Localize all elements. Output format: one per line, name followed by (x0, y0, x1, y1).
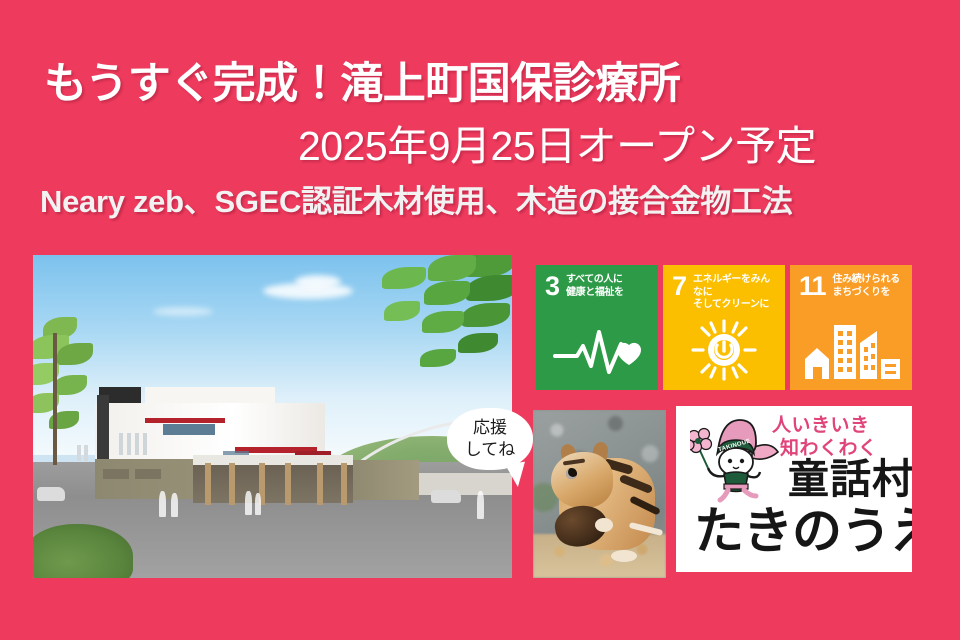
sdg-badge-header: 7 エネルギーをみんなに そしてクリーンに (663, 265, 785, 312)
leaf-shape (422, 311, 464, 333)
cloud-shape (153, 307, 213, 316)
figure-silhouette (159, 491, 166, 517)
chipmunk-eye (566, 468, 577, 479)
logo-tagline-line1: 人いきいき (772, 414, 870, 438)
figure-silhouette (245, 491, 252, 515)
fairy-mascot-icon (690, 414, 784, 506)
sun-power-icon (663, 319, 785, 381)
entrance-canopy-soffit (193, 465, 353, 503)
sdg-label: すべての人に 健康と福祉を (566, 274, 624, 299)
chipmunk-paw (595, 518, 613, 532)
sdg-label: エネルギーをみんなに そしてクリーンに (693, 274, 779, 312)
window-strip (135, 469, 161, 479)
leaf-shape (53, 375, 87, 395)
leaf-shape (384, 301, 420, 321)
roof-accent-band (145, 418, 225, 423)
wood-column (341, 463, 347, 505)
sdg-number: 7 (672, 274, 686, 299)
sdg-badge-header: 3 すべての人に 健康と福祉を (536, 265, 658, 299)
leaf-shape (382, 267, 426, 289)
entrance-canopy (193, 455, 353, 465)
parked-car (37, 487, 65, 501)
sdg-badge-header: 11 住み続けられる まちづくりを (790, 265, 912, 299)
sdg-number: 11 (799, 274, 826, 299)
sdg-badge-11[interactable]: 11 住み続けられる まちづくりを (790, 265, 912, 390)
sdg-badge-7[interactable]: 7 エネルギーをみんなに そしてクリーンに (663, 265, 785, 390)
speech-bubble-tail (505, 462, 529, 489)
window-strip (163, 424, 215, 435)
building-right-wing (351, 460, 419, 500)
sdg-number: 3 (545, 274, 559, 299)
leaf-shape (428, 255, 476, 281)
poster-canvas: もうすぐ完成！滝上町国保診療所 2025年9月25日オープン予定 Neary z… (0, 0, 960, 640)
clinic-rendering-photo (33, 255, 512, 578)
wood-column (285, 463, 291, 505)
speech-bubble-line2: してね (465, 439, 516, 461)
window-strip (143, 433, 147, 455)
takinoue-logo[interactable]: TAKINOUE 人いきいき 知わくわく 童話村 たきのうえ (676, 406, 912, 572)
sdg-label: 住み続けられる まちづくりを (833, 274, 900, 299)
cityscape-icon (790, 319, 912, 381)
chipmunk-photo-alt: シマリス（エゾシマリス）の写真 (0, 0, 1, 1)
leaf-shape (57, 343, 93, 365)
cloud-shape (295, 275, 341, 288)
wood-column (229, 463, 235, 505)
speech-bubble: 応援 してね (447, 408, 533, 470)
page-subtitle: Neary zeb、SGEC認証木材使用、木造の接合金物工法 (40, 183, 792, 221)
leaf-shape (420, 349, 456, 367)
leaf-shape (458, 333, 498, 353)
figure-silhouette (477, 491, 484, 519)
logo-village-text: 童話村 (788, 456, 912, 502)
wood-column (317, 463, 323, 505)
chipmunk-paw (611, 550, 637, 562)
parked-car (431, 490, 461, 503)
tree-right (340, 255, 512, 389)
heartbeat-icon (536, 319, 658, 381)
tree-left (33, 313, 131, 463)
wood-column (205, 463, 211, 505)
figure-silhouette (171, 493, 178, 517)
tree-trunk (53, 333, 57, 465)
speech-bubble-line1: 応援 (473, 417, 507, 439)
figure-silhouette (255, 493, 261, 515)
window-strip (103, 469, 129, 479)
leaf-shape (466, 275, 512, 301)
leaf-shape (462, 303, 510, 327)
logo-town-name: たきのうえ (694, 502, 912, 560)
sdg-badge-3[interactable]: 3 すべての人に 健康と福祉を (536, 265, 658, 390)
page-title-line1: もうすぐ完成！滝上町国保診療所 (44, 58, 680, 110)
sdg-badge-row: 3 すべての人に 健康と福祉を 7 エネルギーをみんなに そしてクリーンに (536, 265, 912, 390)
page-title-line2: 2025年9月25日オープン予定 (298, 121, 816, 171)
leaf-shape (424, 281, 470, 305)
render-photo-alt: 滝上町国保診療所 完成予想パース (0, 0, 1, 1)
window-strip (135, 433, 139, 455)
chipmunk-photo (533, 410, 666, 578)
